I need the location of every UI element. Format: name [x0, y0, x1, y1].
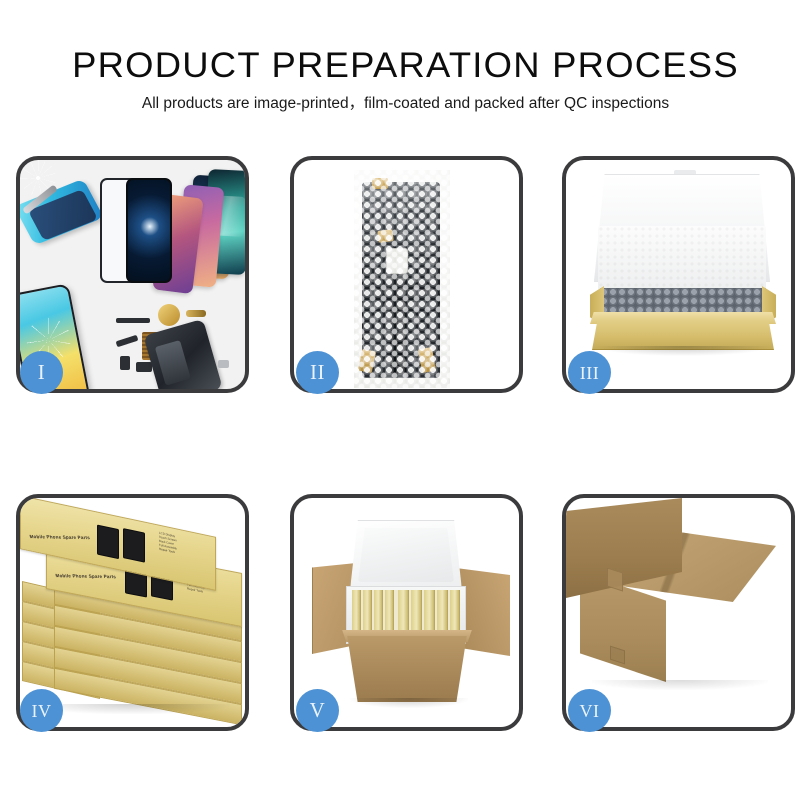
step-badge-4: IV — [20, 689, 63, 732]
part-camera-flex-icon — [186, 310, 206, 317]
bubble-wrap-highlight-icon — [352, 168, 452, 390]
part-screw-set-icon — [218, 360, 229, 368]
part-sim-tray-icon — [136, 362, 152, 372]
drop-shadow — [596, 346, 770, 356]
part-wireless-coil-icon — [158, 304, 180, 326]
drop-shadow — [350, 698, 468, 708]
box-spec-list: LCD Display Touch Screen Back Cover Full… — [159, 532, 177, 555]
foam-sheet-icon — [598, 226, 766, 290]
phone-chassis-back-icon — [143, 319, 222, 393]
step-badge-2: II — [296, 351, 339, 394]
foam-lid-inner-icon — [358, 528, 454, 582]
product-preparation-infographic: PRODUCT PREPARATION PROCESS All products… — [0, 0, 811, 811]
step-badge-1: I — [20, 351, 63, 394]
drop-shadow — [592, 680, 768, 690]
part-ribbon-cable-left-icon — [116, 335, 139, 348]
part-button-icon — [120, 356, 130, 370]
process-step-grid: Mobile Phone Spare Parts LCD Display Tou… — [0, 0, 811, 811]
box-screen-thumb-icon — [97, 525, 119, 560]
step-badge-3: III — [568, 351, 611, 394]
carton-front-panel-icon — [342, 636, 472, 702]
box-screen-thumb-icon — [123, 528, 145, 563]
box-brand-label: Mobile Phone Spare Parts — [29, 534, 90, 540]
drop-shadow — [34, 704, 230, 714]
part-speaker-mesh-icon — [116, 318, 150, 323]
gold-boxes-inside-icon — [352, 590, 460, 634]
step-badge-6: VI — [568, 689, 611, 732]
screen-cracked-dark-icon — [126, 178, 172, 283]
box-brand-label: Mobile Phone Spare Parts — [55, 573, 116, 579]
step-badge-5: V — [296, 689, 339, 732]
